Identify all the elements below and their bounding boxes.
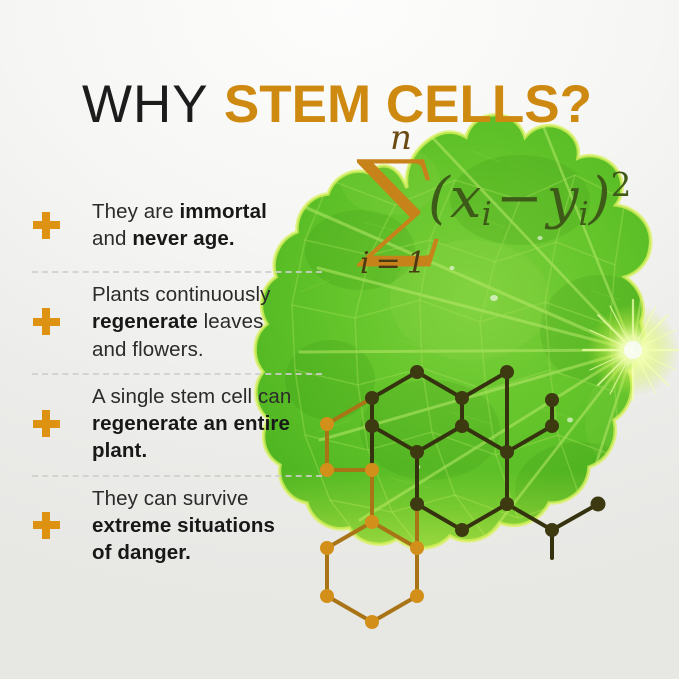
molecule-lattice	[320, 365, 606, 629]
plus-icon	[33, 308, 60, 335]
lens-flare	[583, 300, 679, 400]
list-item: They can surviveextreme situationsof dan…	[0, 479, 345, 575]
formula-paren-open: (	[428, 166, 450, 231]
list-item: A single stem cell canregenerate an enti…	[0, 377, 345, 473]
page-title: WHY STEM CELLS?	[82, 77, 592, 133]
list-divider	[32, 373, 322, 375]
title-thin-part: WHY	[82, 75, 209, 134]
formula-var-y: y	[547, 166, 579, 231]
formula-var-x: x	[450, 166, 482, 231]
plus-icon-wrap	[0, 410, 92, 437]
formula-sub-x: i	[481, 195, 491, 233]
formula-paren-close: )	[589, 166, 611, 231]
list-item-text: They can surviveextreme situationsof dan…	[92, 485, 345, 567]
list-item-text: Plants continuouslyregenerate leavesand …	[92, 281, 345, 363]
molecule-bond-dark	[372, 372, 598, 558]
list-item-text: They are immortaland never age.	[92, 198, 345, 253]
list-item-text: A single stem cell canregenerate an enti…	[92, 383, 345, 465]
formula-expression: (xi−yi)2	[428, 166, 631, 233]
plus-icon	[33, 410, 60, 437]
molecule-node-dark	[365, 365, 606, 537]
formula-lower-limit: i = 1	[360, 246, 426, 281]
plus-icon	[33, 512, 60, 539]
plus-icon-wrap	[0, 308, 92, 335]
plus-icon	[33, 212, 60, 239]
plus-icon-wrap	[0, 212, 92, 239]
list-item: They are immortaland never age.	[0, 183, 345, 269]
sigma-icon: ∑	[356, 144, 440, 262]
plus-icon-wrap	[0, 512, 92, 539]
title-accent-part: STEM CELLS?	[224, 75, 592, 134]
infographic-poster: WHY STEM CELLS? They are immortaland nev…	[0, 0, 679, 679]
summation-formula: n ∑ i = 1 (xi−yi)2	[352, 118, 672, 288]
formula-operator: −	[492, 166, 547, 231]
list-divider	[32, 271, 322, 273]
benefits-list: They are immortaland never age. Plants c…	[0, 183, 345, 574]
list-item: Plants continuouslyregenerate leavesand …	[0, 275, 345, 371]
list-divider	[32, 475, 322, 477]
formula-power: 2	[611, 166, 632, 204]
formula-sub-y: i	[578, 195, 588, 233]
